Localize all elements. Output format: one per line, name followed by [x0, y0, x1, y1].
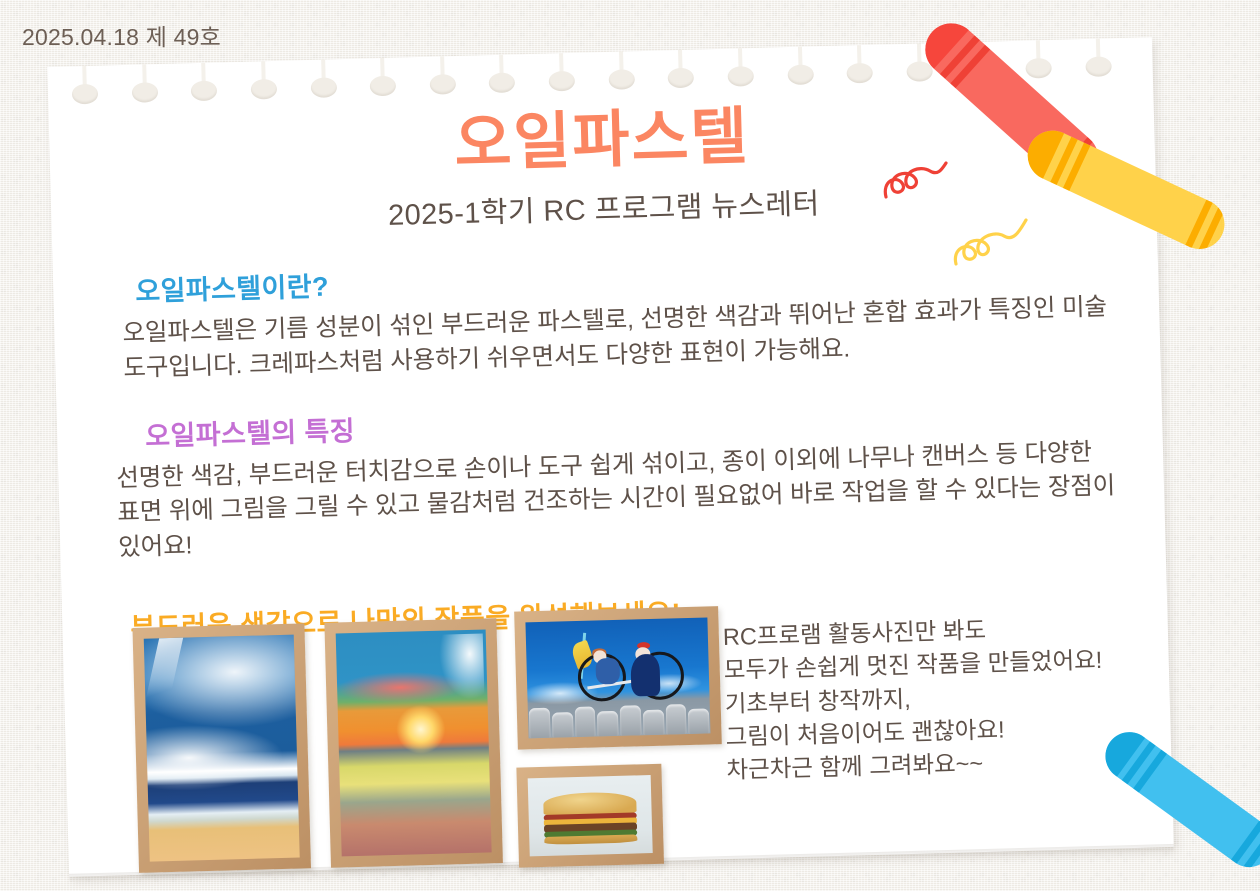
gallery-caption: RC프로램 활동사진만 봐도 모두가 손쉽게 멋진 작품을 만들었어요! 기초부…: [722, 610, 1146, 788]
artwork-beach-seascape: [132, 623, 311, 873]
artwork-bicycle-riders: [514, 606, 722, 749]
hamburger-image: [528, 775, 653, 856]
notebook-page: 오일파스텔 2025-1학기 RC 프로그램 뉴스레터 오일파스텔이란? 오일파…: [47, 37, 1174, 877]
article-body: 오일파스텔이란? 오일파스텔은 기름 성분이 섞인 부드러운 파스텔로, 선명한…: [115, 243, 1125, 645]
binding-ring: [190, 63, 217, 108]
section-features: 오일파스텔의 특징 선명한 색감, 부드러운 터치감으로 손이나 도구 쉽게 섞…: [119, 388, 1123, 566]
binding-ring: [667, 50, 694, 95]
artwork-gallery: [132, 604, 739, 870]
binding-ring: [429, 56, 456, 101]
binding-ring: [727, 48, 754, 93]
binding-ring: [489, 54, 516, 99]
sunset-seascape-image: [336, 629, 492, 856]
binding-ring: [250, 61, 277, 106]
burger-bottom-bun: [544, 834, 638, 845]
issue-date: 2025.04.18 제 49호: [22, 18, 221, 52]
section-paragraph-features: 선명한 색감, 부드러운 터치감으로 손이나 도구 쉽게 섞이고, 종이 이외에…: [116, 435, 1122, 566]
binding-ring: [1085, 38, 1112, 83]
artwork-hamburger: [516, 764, 664, 868]
binding-ring: [1025, 40, 1052, 85]
binding-ring: [548, 53, 575, 98]
red-scribble-icon: [880, 135, 970, 205]
binding-ring: [310, 59, 337, 104]
rider-body: [630, 654, 660, 697]
stone-wall: [528, 696, 711, 738]
binding-ring: [131, 64, 158, 109]
burger-stack: [543, 791, 638, 845]
child-body: [596, 658, 620, 684]
binding-ring: [846, 45, 873, 90]
binding-ring: [608, 51, 635, 96]
artwork-sunset-seascape: [324, 618, 503, 868]
yellow-scribble-icon: [950, 200, 1046, 272]
binding-ring: [369, 58, 396, 103]
binding-ring: [71, 66, 98, 111]
beach-seascape-image: [144, 635, 300, 862]
binding-ring: [787, 46, 814, 91]
bicycle-riders-image: [525, 617, 710, 738]
